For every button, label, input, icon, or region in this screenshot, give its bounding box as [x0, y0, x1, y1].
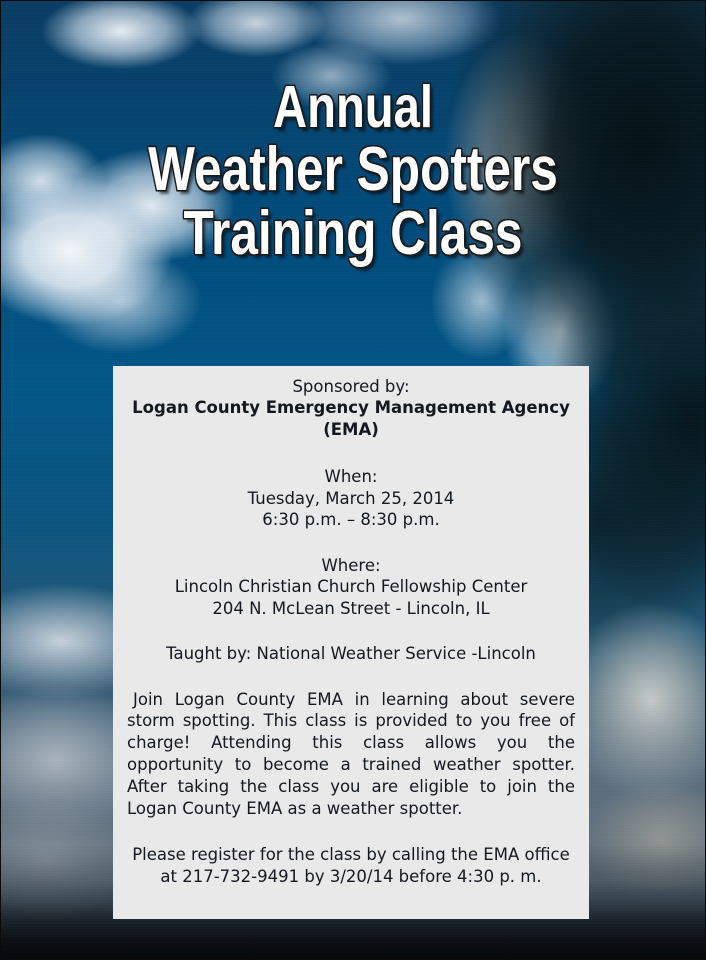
instructor-block: Taught by: National Weather Service -Lin… [127, 643, 575, 664]
headline-line-3: Training Class [71, 204, 634, 264]
spacer-after-description [127, 820, 575, 844]
when-time: 6:30 p.m. – 8:30 p.m. [127, 509, 575, 530]
sponsor-block: Sponsored by: Logan County Emergency Man… [127, 376, 575, 440]
when-label: When: [127, 466, 575, 487]
where-block: Where: Lincoln Christian Church Fellowsh… [127, 555, 575, 619]
spacer-after-when [127, 531, 575, 555]
sponsor-acronym: (EMA) [127, 419, 575, 440]
headline-line-1: Annual [71, 79, 634, 136]
page-title: Annual Weather Spotters Training Class [1, 79, 705, 265]
headline-line-2: Weather Spotters [71, 140, 634, 200]
where-venue: Lincoln Christian Church Fellowship Cent… [127, 576, 575, 597]
flyer-poster: Annual Weather Spotters Training Class S… [0, 0, 706, 960]
instructor-line: Taught by: National Weather Service -Lin… [127, 643, 575, 664]
when-date: Tuesday, March 25, 2014 [127, 488, 575, 509]
spacer-after-sponsor [127, 440, 575, 466]
where-address: 204 N. McLean Street - Lincoln, IL [127, 598, 575, 619]
where-label: Where: [127, 555, 575, 576]
description-paragraph: Join Logan County EMA in learning about … [127, 689, 575, 821]
spacer-after-instructor [127, 665, 575, 689]
when-block: When: Tuesday, March 25, 2014 6:30 p.m. … [127, 466, 575, 530]
sponsor-organization: Logan County Emergency Management Agency [127, 397, 575, 418]
spacer-after-where [127, 619, 575, 643]
info-panel: Sponsored by: Logan County Emergency Man… [113, 366, 589, 919]
sponsor-label: Sponsored by: [127, 376, 575, 397]
registration-paragraph: Please register for the class by calling… [127, 844, 575, 888]
